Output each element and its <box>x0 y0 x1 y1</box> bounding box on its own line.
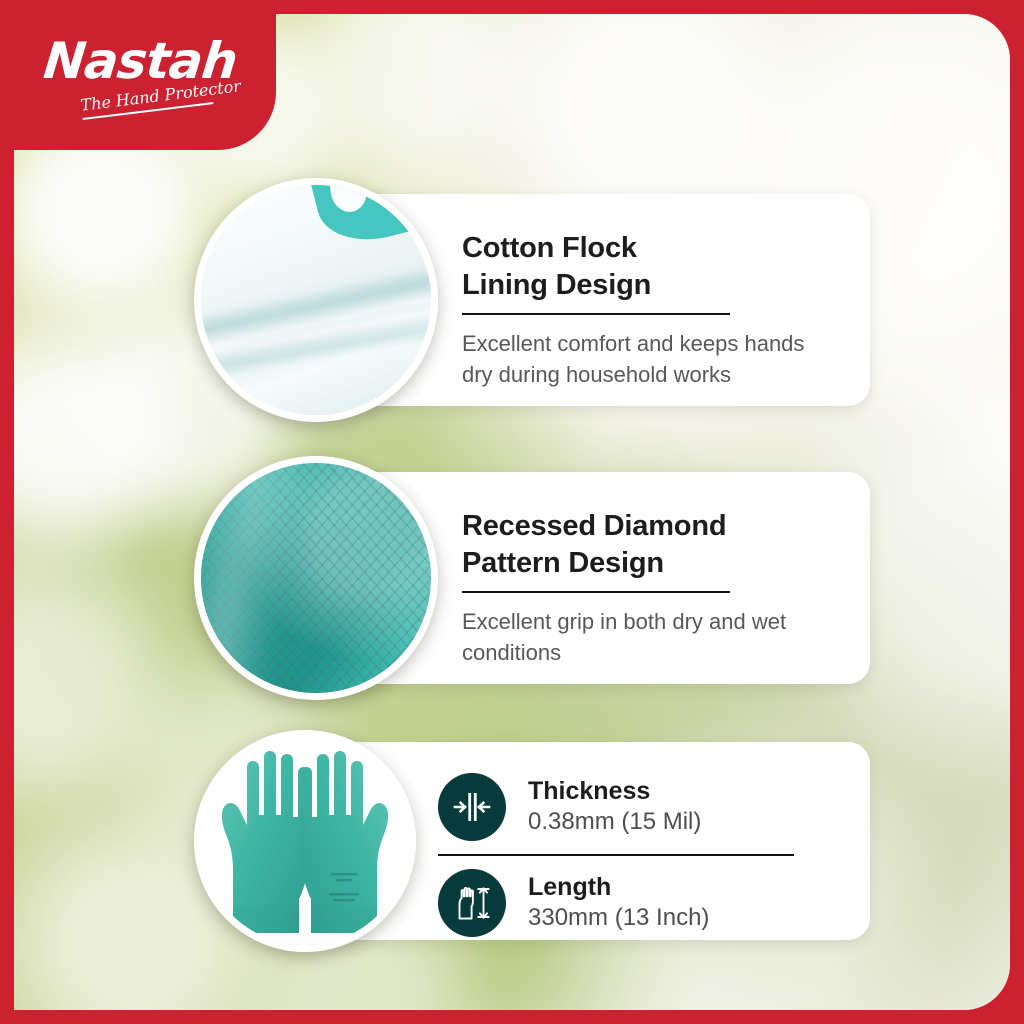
spec-value: 330mm (13 Inch) <box>528 903 840 933</box>
content-area: Cotton Flock Lining Design Excellent com… <box>14 14 1010 1010</box>
feature-text-block: Recessed Diamond Pattern Design Excellen… <box>462 508 836 669</box>
feature-row-diamond-pattern: Recessed Diamond Pattern Design Excellen… <box>194 456 870 700</box>
brand-logo-banner: Nastah The Hand Protector <box>14 14 276 150</box>
thickness-arrows-icon <box>438 773 506 841</box>
cotton-flock-photo <box>201 185 431 415</box>
feature-thumbnail-cotton-flock <box>194 178 438 422</box>
feature-list: Cotton Flock Lining Design Excellent com… <box>14 14 1010 1010</box>
feature-thumbnail-diamond-pattern <box>194 456 438 700</box>
feature-title-line-1: Cotton Flock <box>462 232 637 264</box>
spec-label: Length <box>528 873 840 902</box>
feature-description: Excellent comfort and keeps hands dry du… <box>462 328 836 390</box>
diamond-pattern-photo <box>201 463 431 693</box>
feature-title: Recessed Diamond Pattern Design <box>462 508 836 581</box>
glove-length-icon <box>438 869 506 937</box>
product-infographic-poster: Cotton Flock Lining Design Excellent com… <box>0 0 1024 1024</box>
gloves-pair-photo <box>201 737 409 945</box>
spec-row-thickness: Thickness 0.38mm (15 Mil) <box>438 764 840 850</box>
gloves-illustration <box>207 747 403 935</box>
feature-title-line-2: Lining Design <box>462 269 651 301</box>
feature-title-underline <box>462 313 730 315</box>
feature-description: Excellent grip in both dry and wet condi… <box>462 606 836 668</box>
spec-label: Thickness <box>528 777 840 806</box>
feature-text-block: Cotton Flock Lining Design Excellent com… <box>462 230 836 391</box>
feature-row-specifications: Thickness 0.38mm (15 Mil) <box>194 730 870 952</box>
feature-title-line-1: Recessed Diamond <box>462 510 726 542</box>
spec-text-block: Thickness 0.38mm (15 Mil) <box>528 777 840 838</box>
spec-row-length: Length 330mm (13 Inch) <box>438 860 840 946</box>
spec-divider <box>438 854 794 856</box>
feature-title: Cotton Flock Lining Design <box>462 230 836 303</box>
feature-row-cotton-flock: Cotton Flock Lining Design Excellent com… <box>194 178 870 422</box>
spec-value: 0.38mm (15 Mil) <box>528 807 840 837</box>
spec-text-block: Length 330mm (13 Inch) <box>528 873 840 934</box>
feature-title-line-2: Pattern Design <box>462 547 664 579</box>
feature-title-underline <box>462 591 730 593</box>
feature-thumbnail-gloves-pair <box>194 730 416 952</box>
specification-list: Thickness 0.38mm (15 Mil) <box>438 764 840 922</box>
